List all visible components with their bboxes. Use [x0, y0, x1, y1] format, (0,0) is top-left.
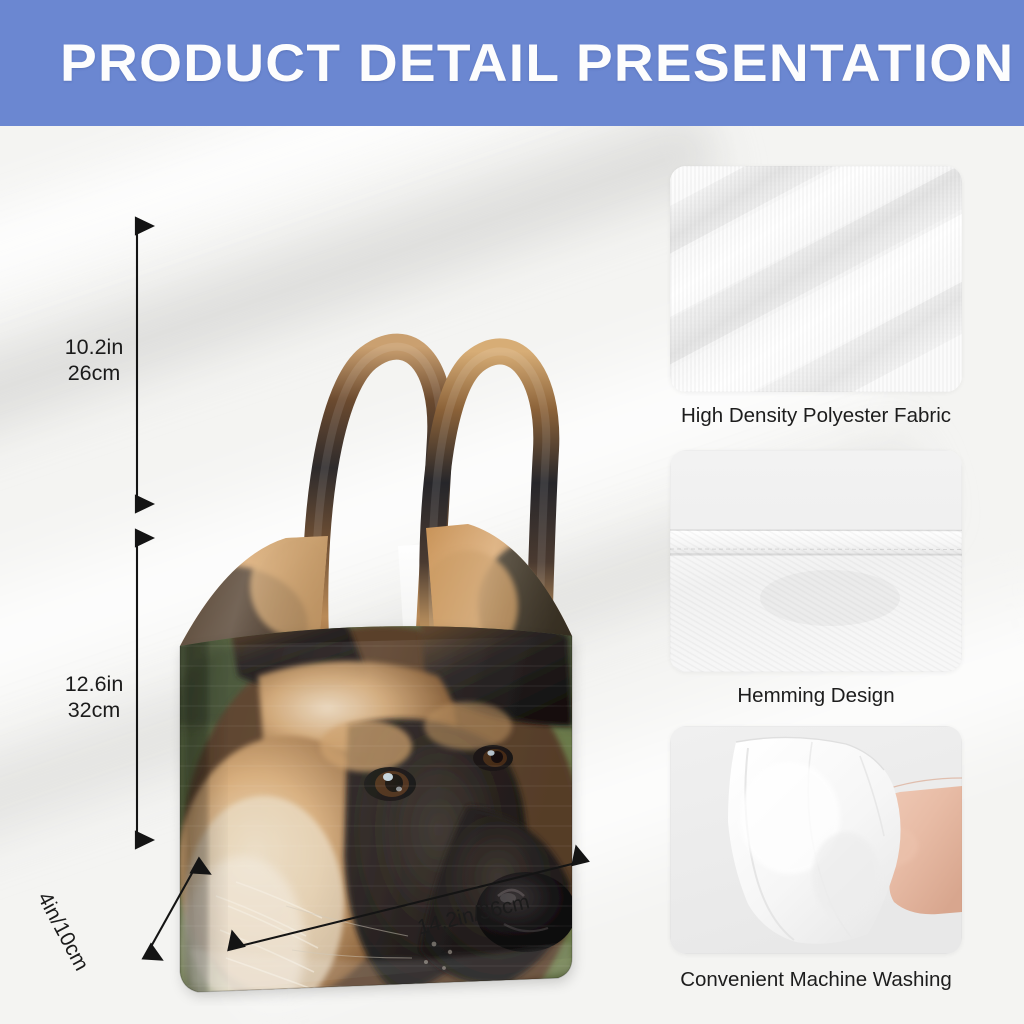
- feature-caption: Convenient Machine Washing: [670, 968, 962, 992]
- product-photo-area: 10.2in 26cm 12.6in 32cm 4in/10cm 14.2in/…: [0, 126, 1024, 1024]
- feature-card-hemming-design[interactable]: Hemming Design: [670, 450, 962, 700]
- fabric-fold-svg: [670, 166, 962, 392]
- handle-height-centimeters: 26cm: [46, 360, 142, 386]
- feature-caption: High Density Polyester Fabric: [670, 404, 962, 428]
- page-title: PRODUCT DETAIL PRESENTATION: [60, 33, 1014, 94]
- body-height-centimeters: 32cm: [46, 697, 142, 723]
- hand-holding-fabric-svg: [670, 726, 962, 954]
- hem-seam-svg: [670, 450, 962, 672]
- tote-bag-svg: [168, 206, 588, 1006]
- body-height-label: 12.6in 32cm: [46, 671, 142, 723]
- handle-height-label: 10.2in 26cm: [46, 334, 142, 386]
- machine-washing-swatch-image: [670, 726, 962, 954]
- product-detail-page: PRODUCT DETAIL PRESENTATION: [0, 0, 1024, 1024]
- hemming-design-swatch-image: [670, 450, 962, 672]
- tote-body-print: [168, 603, 588, 1006]
- depth-label: 4in/10cm: [31, 888, 94, 975]
- feature-card-polyester-fabric[interactable]: High Density Polyester Fabric: [670, 166, 962, 416]
- body-height-inches: 12.6in: [46, 671, 142, 697]
- tote-bag-product-image: [168, 206, 588, 1006]
- feature-card-machine-washing[interactable]: Convenient Machine Washing: [670, 726, 962, 981]
- header-banner: PRODUCT DETAIL PRESENTATION: [0, 0, 1024, 126]
- polyester-fabric-swatch-image: [670, 166, 962, 392]
- handle-height-inches: 10.2in: [46, 334, 142, 360]
- crumpled-cloth: [728, 737, 901, 943]
- feature-caption: Hemming Design: [670, 684, 962, 708]
